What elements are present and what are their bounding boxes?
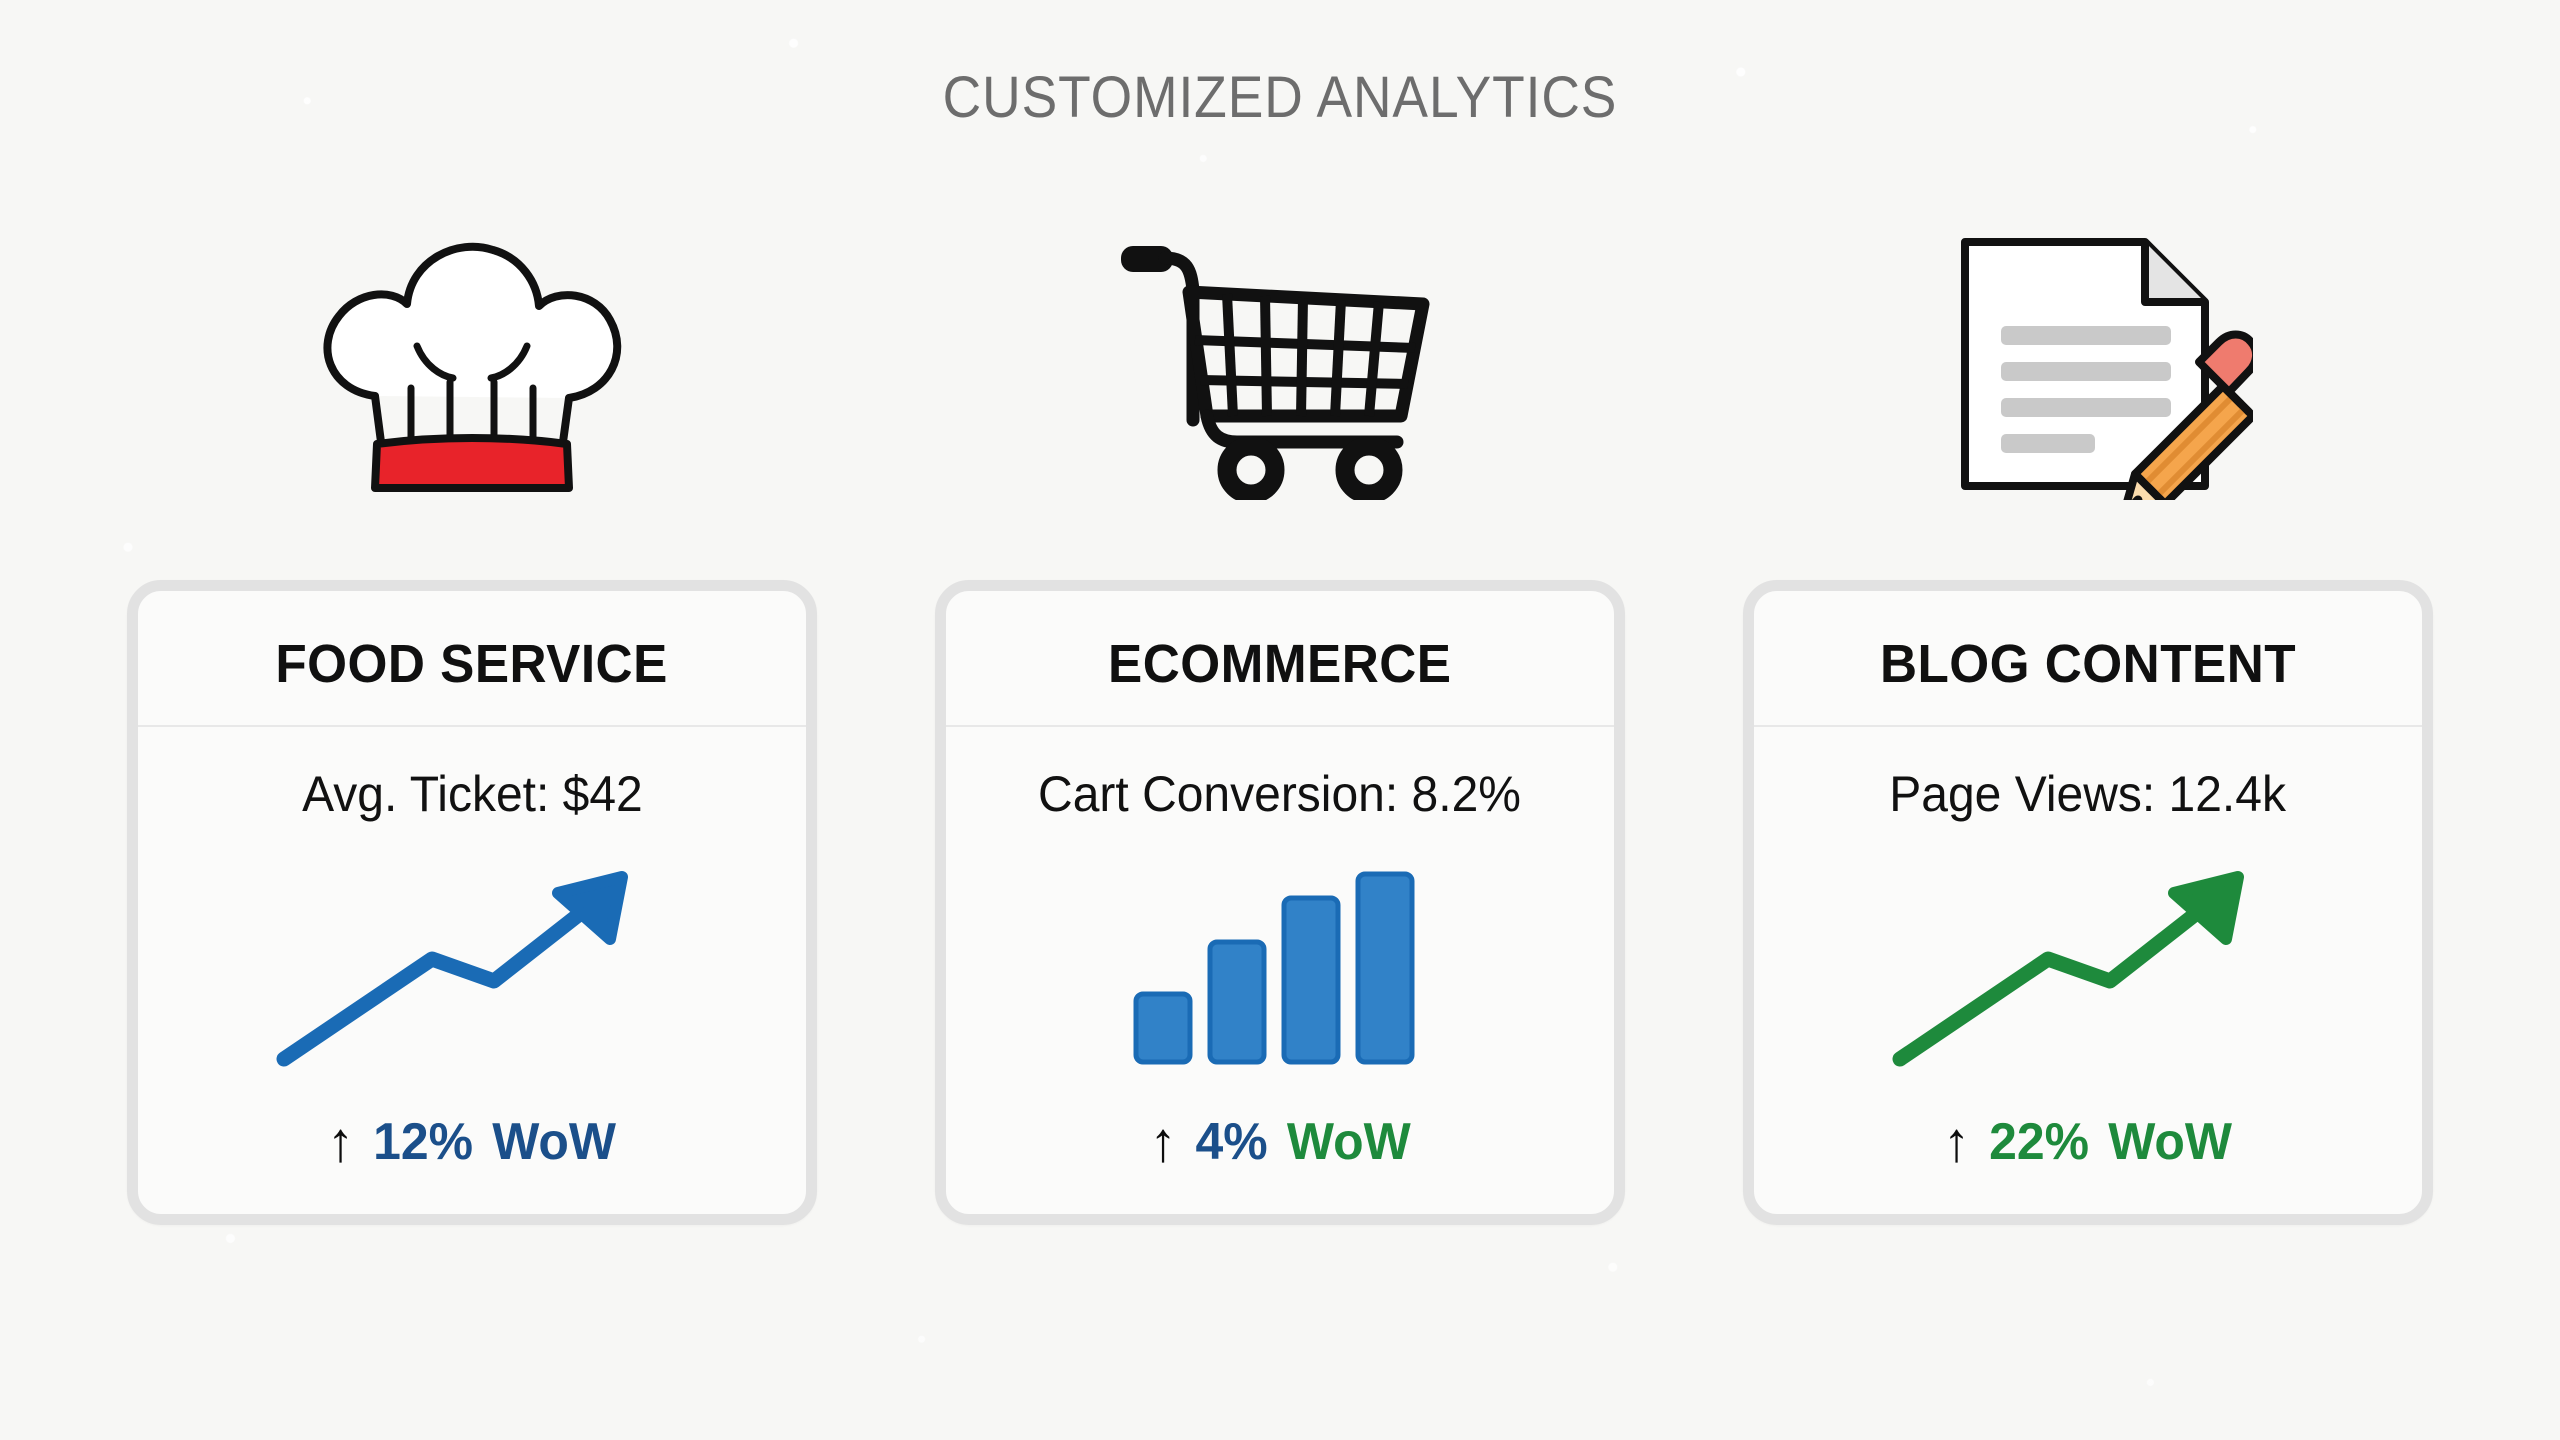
card-divider xyxy=(1754,725,2422,727)
document-pencil-icon xyxy=(1923,230,2253,500)
card-grid: FOOD SERVICE Avg. Ticket: $42 ↑ 12% WoW xyxy=(0,150,2560,1330)
column-food-service: FOOD SERVICE Avg. Ticket: $42 ↑ 12% WoW xyxy=(127,150,817,1330)
card-visual-line-chart xyxy=(138,823,806,1112)
card-metric: Avg. Ticket: $42 xyxy=(302,765,643,823)
chef-hat-icon-area xyxy=(127,150,817,580)
line-chart-up-green-icon xyxy=(1878,853,2298,1083)
trend-up-arrow-icon: ↑ xyxy=(1943,1114,1970,1170)
change-period-label: WoW xyxy=(1287,1112,1411,1172)
change-period-label: WoW xyxy=(2109,1112,2233,1172)
column-ecommerce: ECOMMERCE Cart Conversion: 8.2% ↑ 4% xyxy=(935,150,1625,1330)
change-period-label: WoW xyxy=(493,1112,617,1172)
change-percent: 12% xyxy=(374,1112,474,1172)
shopping-cart-icon-area xyxy=(935,150,1625,580)
line-chart-up-blue-icon xyxy=(262,853,682,1083)
doc-text-line xyxy=(2001,326,2171,345)
card-title: BLOG CONTENT xyxy=(1880,633,2296,695)
page-title: CUSTOMIZED ANALYTICS xyxy=(102,64,2457,131)
card-title: FOOD SERVICE xyxy=(276,633,668,695)
card-divider xyxy=(946,725,1614,727)
doc-text-line xyxy=(2001,434,2095,453)
card-food-service[interactable]: FOOD SERVICE Avg. Ticket: $42 ↑ 12% WoW xyxy=(127,580,817,1225)
card-visual-bar-chart xyxy=(946,823,1614,1112)
chef-hat-icon xyxy=(307,230,637,500)
trend-up-arrow-icon: ↑ xyxy=(327,1114,354,1170)
document-pencil-icon-area xyxy=(1743,150,2433,580)
bar-chart-blue-icon xyxy=(1130,868,1430,1068)
column-blog-content: BLOG CONTENT Page Views: 12.4k ↑ 22% WoW xyxy=(1743,150,2433,1330)
card-footer: ↑ 12% WoW xyxy=(327,1112,616,1172)
analytics-dashboard: CUSTOMIZED ANALYTICS xyxy=(0,0,2560,1440)
card-footer: ↑ 4% WoW xyxy=(1149,1112,1410,1172)
card-blog-content[interactable]: BLOG CONTENT Page Views: 12.4k ↑ 22% WoW xyxy=(1743,580,2433,1225)
change-percent: 4% xyxy=(1195,1112,1267,1172)
card-metric: Page Views: 12.4k xyxy=(1890,765,2287,823)
shopping-cart-icon xyxy=(1115,230,1445,500)
doc-text-line xyxy=(2001,398,2171,417)
card-metric: Cart Conversion: 8.2% xyxy=(1039,765,1522,823)
card-visual-line-chart xyxy=(1754,823,2422,1112)
card-ecommerce[interactable]: ECOMMERCE Cart Conversion: 8.2% ↑ 4% xyxy=(935,580,1625,1225)
trend-up-arrow-icon: ↑ xyxy=(1149,1114,1176,1170)
card-divider xyxy=(138,725,806,727)
doc-text-line xyxy=(2001,362,2171,381)
card-footer: ↑ 22% WoW xyxy=(1943,1112,2232,1172)
change-percent: 22% xyxy=(1990,1112,2090,1172)
card-title: ECOMMERCE xyxy=(1108,633,1451,695)
